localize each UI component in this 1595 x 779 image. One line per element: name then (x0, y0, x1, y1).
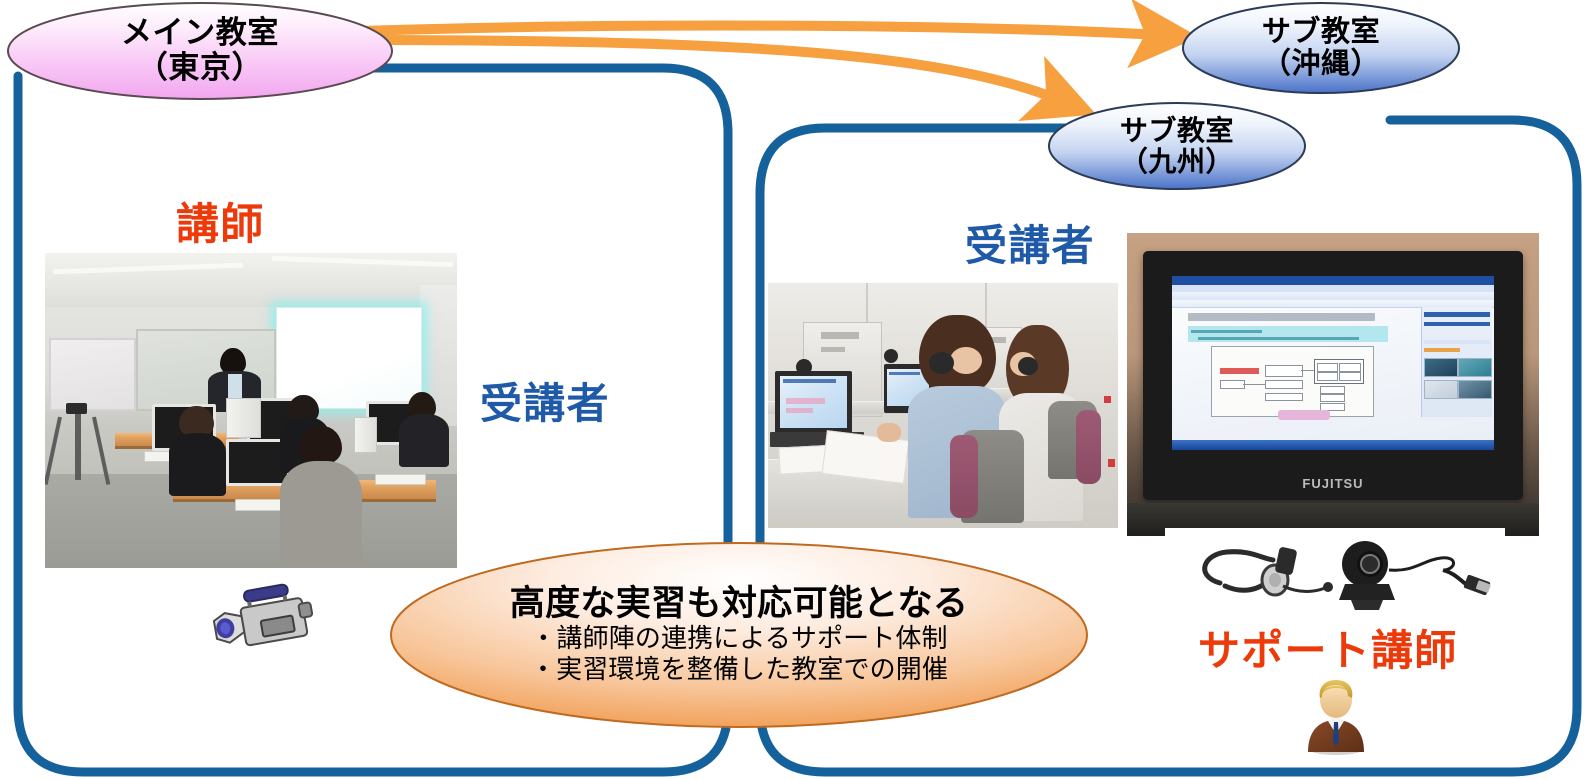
attendees-left-label: 受講者 (480, 383, 610, 425)
main-classroom-ellipse[interactable] (8, 3, 392, 99)
headset-and-webcam-photo (1165, 528, 1505, 614)
support-instructor-person-icon (1300, 672, 1372, 756)
camcorder-icon (196, 578, 336, 656)
diagram-canvas: FUJITSU (0, 0, 1595, 779)
arrow-main-to-okinawa (330, 26, 1160, 35)
students-with-headsets-photo (768, 283, 1118, 528)
main-classroom-photo (45, 253, 457, 568)
sub-classroom-kyushu-ellipse[interactable] (1049, 103, 1305, 189)
instructor-label: 講師 (176, 204, 265, 247)
sub-classroom-okinawa-ellipse[interactable] (1183, 3, 1459, 93)
laptop-web-conference-screen-photo: FUJITSU (1127, 233, 1539, 536)
laptop-brand-text: FUJITSU (1302, 476, 1363, 491)
attendees-right-label: 受講者 (965, 225, 1095, 267)
support-instructor-label: サポート講師 (1198, 630, 1458, 672)
